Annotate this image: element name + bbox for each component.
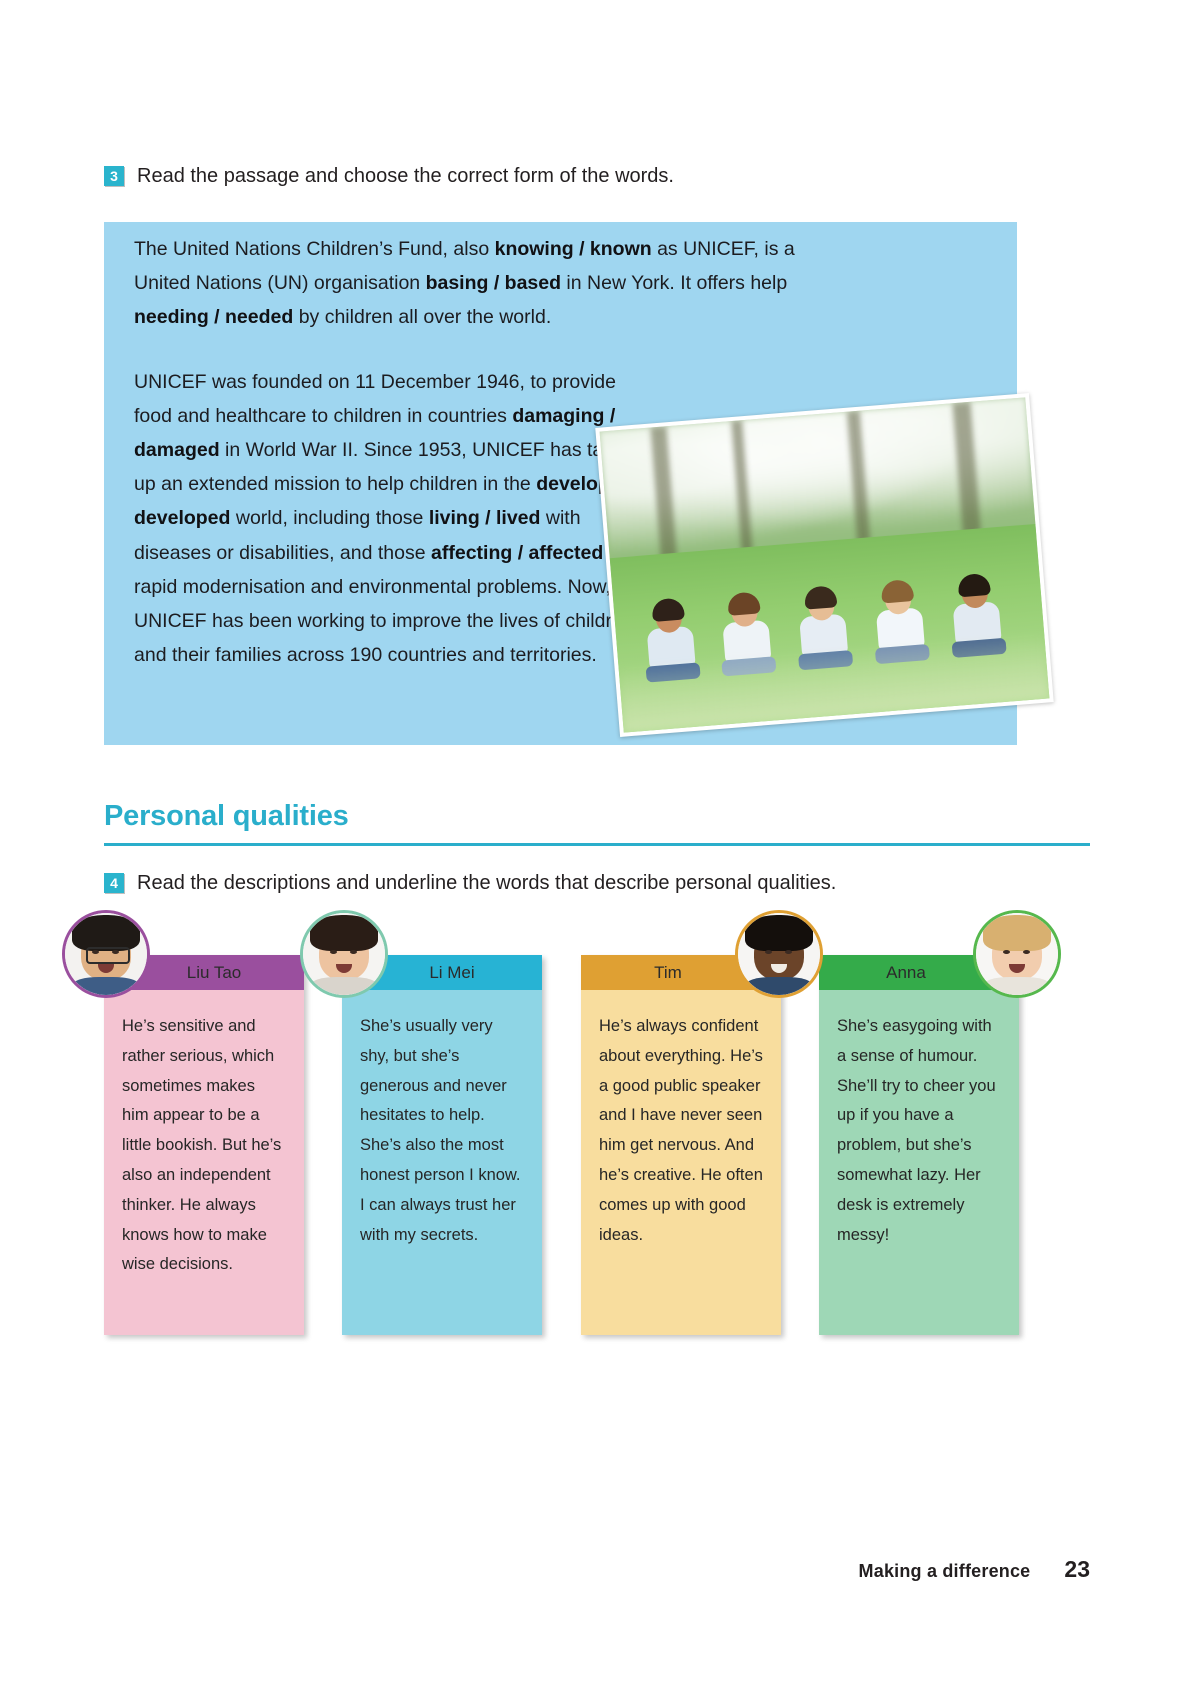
person-cards: Liu Tao He’s sensitive and rather seriou… xyxy=(104,955,1094,1345)
avatar-li-mei xyxy=(300,910,388,998)
exercise-number-badge: 4 xyxy=(104,873,124,893)
card-description-tim: He’s always confident about everything. … xyxy=(581,990,781,1335)
person-card-anna[interactable]: Anna She’s easygoing with a sense of hum… xyxy=(819,955,1019,1335)
avatar-tim xyxy=(735,910,823,998)
choice-pair-knowing-known[interactable]: knowing / known xyxy=(495,238,652,260)
person-name: Tim xyxy=(654,963,682,982)
passage-paragraph-2: UNICEF was founded on 11 December 1946, … xyxy=(134,365,654,673)
children-photo xyxy=(595,393,1053,737)
footer-page-number: 23 xyxy=(1064,1556,1090,1583)
face-illustration xyxy=(738,913,820,995)
avatar-liu-tao xyxy=(62,910,150,998)
exercise-4-instruction: Read the descriptions and underline the … xyxy=(137,870,836,896)
exercise-3-instruction: Read the passage and choose the correct … xyxy=(137,163,674,189)
exercise-4-header: 4 Read the descriptions and underline th… xyxy=(104,870,836,896)
photo-image xyxy=(600,397,1050,732)
choice-pair-living-lived[interactable]: living / lived xyxy=(429,507,541,529)
face-illustration xyxy=(976,913,1058,995)
passage-paragraph-1: The United Nations Children’s Fund, also… xyxy=(134,232,824,335)
section-divider xyxy=(104,843,1090,846)
card-description-anna: She’s easygoing with a sense of humour. … xyxy=(819,990,1019,1335)
exercise-number-badge: 3 xyxy=(104,166,124,186)
card-description-li-mei: She’s usually very shy, but she’s genero… xyxy=(342,990,542,1335)
person-name: Liu Tao xyxy=(187,963,242,982)
face-illustration xyxy=(65,913,147,995)
textbook-page: 3 Read the passage and choose the correc… xyxy=(0,0,1190,1683)
card-description-liu-tao: He’s sensitive and rather serious, which… xyxy=(104,990,304,1335)
face-illustration xyxy=(303,913,385,995)
page-footer: Making a difference 23 xyxy=(859,1556,1090,1583)
choice-pair-affecting-affected[interactable]: affecting / affected xyxy=(431,542,603,564)
person-card-li-mei[interactable]: Li Mei She’s usually very shy, but she’s… xyxy=(342,955,542,1335)
person-name: Li Mei xyxy=(429,963,474,982)
choice-pair-needing-needed[interactable]: needing / needed xyxy=(134,306,293,328)
avatar-anna xyxy=(973,910,1061,998)
glasses-icon xyxy=(86,947,129,964)
person-name: Anna xyxy=(886,963,926,982)
choice-pair-basing-based[interactable]: basing / based xyxy=(426,272,561,294)
person-card-liu-tao[interactable]: Liu Tao He’s sensitive and rather seriou… xyxy=(104,955,304,1335)
footer-unit-title: Making a difference xyxy=(859,1561,1031,1582)
exercise-3-header: 3 Read the passage and choose the correc… xyxy=(104,163,674,189)
section-heading: Personal qualities xyxy=(104,800,349,833)
person-card-tim[interactable]: Tim He’s always confident about everythi… xyxy=(581,955,781,1335)
